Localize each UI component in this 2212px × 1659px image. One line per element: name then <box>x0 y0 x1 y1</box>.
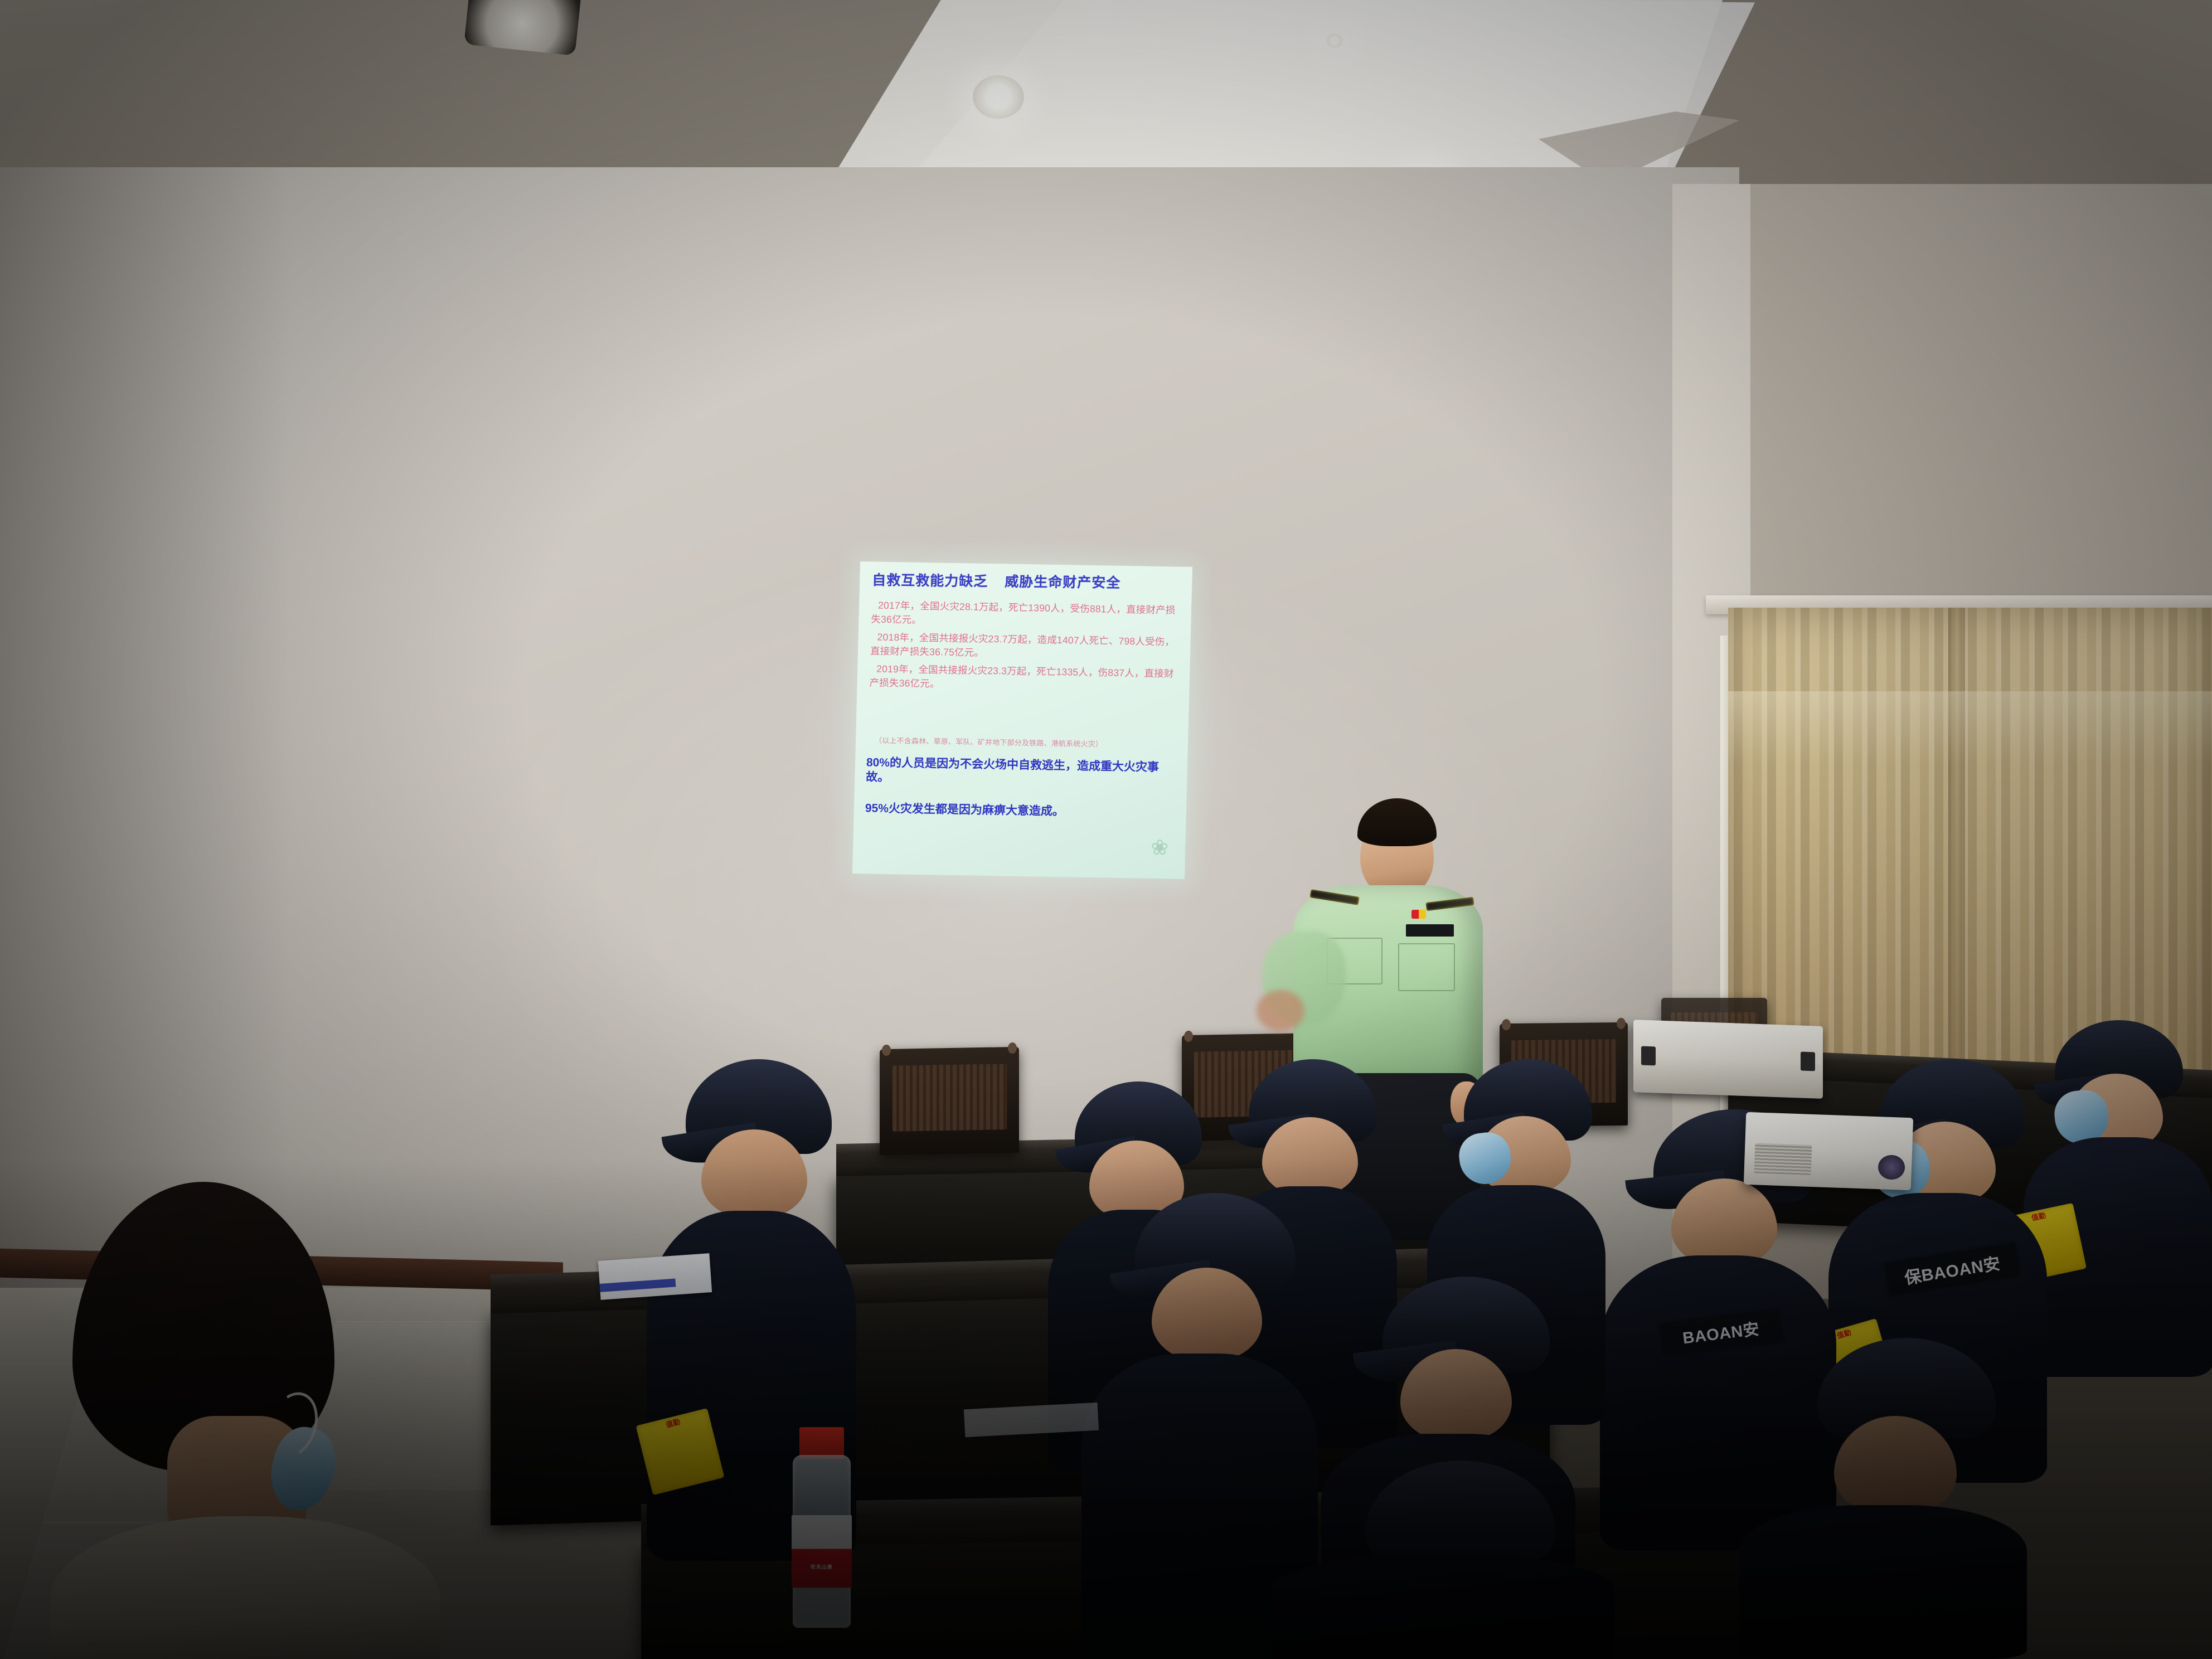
slide-title-right: 威胁生命财产安全 <box>1005 574 1121 591</box>
slide-highlight-1: 80%的人员是因为不会火场中自救逃生，造成重大火灾事故。 <box>866 755 1176 790</box>
projector-lens-icon <box>1878 1154 1905 1180</box>
chair-knob <box>882 1045 891 1056</box>
case-latch-icon <box>1801 1051 1815 1071</box>
bottle-brand-text: 农夫山泉 <box>792 1563 852 1570</box>
foreground-shirt <box>50 1516 440 1659</box>
presenter-hair-icon <box>1357 798 1437 846</box>
slide-logo-icon: ❀ <box>1142 837 1177 871</box>
presenter-hand-icon <box>1257 990 1304 1031</box>
bottle-cap <box>799 1427 845 1459</box>
notebook[interactable] <box>598 1253 712 1300</box>
slide-body-line: 2019年，全国共接报火灾23.3万起，死亡1335人，伤837人，直接财产损失… <box>869 662 1183 695</box>
audience-member <box>1271 1461 1617 1659</box>
audience-member <box>1739 1338 2029 1659</box>
slide-highlight-2: 95%火灾发生都是因为麻痹大意造成。 <box>865 801 1176 821</box>
chair-knob <box>1008 1042 1017 1054</box>
bottle-label: 农夫山泉 <box>792 1515 852 1588</box>
slide-title: 自救互救能力缺乏威胁生命财产安全 <box>872 573 1185 592</box>
presenter-nametag <box>1406 924 1454 937</box>
slide-title-left: 自救互救能力缺乏 <box>872 573 988 589</box>
slide-body: 2017年，全国火灾28.1万起，死亡1390人，受伤881人，直接财产损失36… <box>869 598 1185 698</box>
downlight-icon <box>973 75 1024 119</box>
presenter-badge-icon <box>1411 910 1426 919</box>
chair[interactable] <box>880 1047 1019 1155</box>
case-latch-icon <box>1641 1046 1656 1065</box>
audience-torso <box>1739 1505 2027 1659</box>
wall-shadow <box>0 167 290 1338</box>
downlight-icon <box>1327 33 1342 48</box>
equipment-case[interactable] <box>1633 1020 1823 1099</box>
slide-footnote: （以上不含森林、草原、军队、矿井地下部分及铁路、港航系统火灾） <box>875 735 1178 750</box>
projected-slide: 自救互救能力缺乏威胁生命财产安全 2017年，全国火灾28.1万起，死亡1390… <box>852 561 1192 879</box>
notebook-cover-strip <box>600 1278 676 1292</box>
presenter-pocket-right <box>1398 943 1455 991</box>
chair-knob <box>1617 1018 1626 1029</box>
slide-body-line: 2017年，全国火灾28.1万起，死亡1390人，受伤881人，直接财产损失36… <box>871 598 1185 632</box>
projector[interactable] <box>1744 1112 1913 1190</box>
water-bottle[interactable]: 农夫山泉 <box>790 1427 853 1628</box>
foreground-attendee <box>50 1182 440 1659</box>
chair-slats <box>892 1064 1007 1132</box>
audience-cap <box>1366 1461 1555 1564</box>
audience-torso <box>1271 1555 1614 1659</box>
slide-body-line: 2018年，全国共接报火灾23.7万起，造成1407人死亡、798人受伤，直接财… <box>870 630 1184 663</box>
chair-knob <box>1184 1031 1193 1042</box>
training-room-photo: 自救互救能力缺乏威胁生命财产安全 2017年，全国火灾28.1万起，死亡1390… <box>0 0 2212 1659</box>
projector-vent-grill <box>1754 1143 1812 1175</box>
